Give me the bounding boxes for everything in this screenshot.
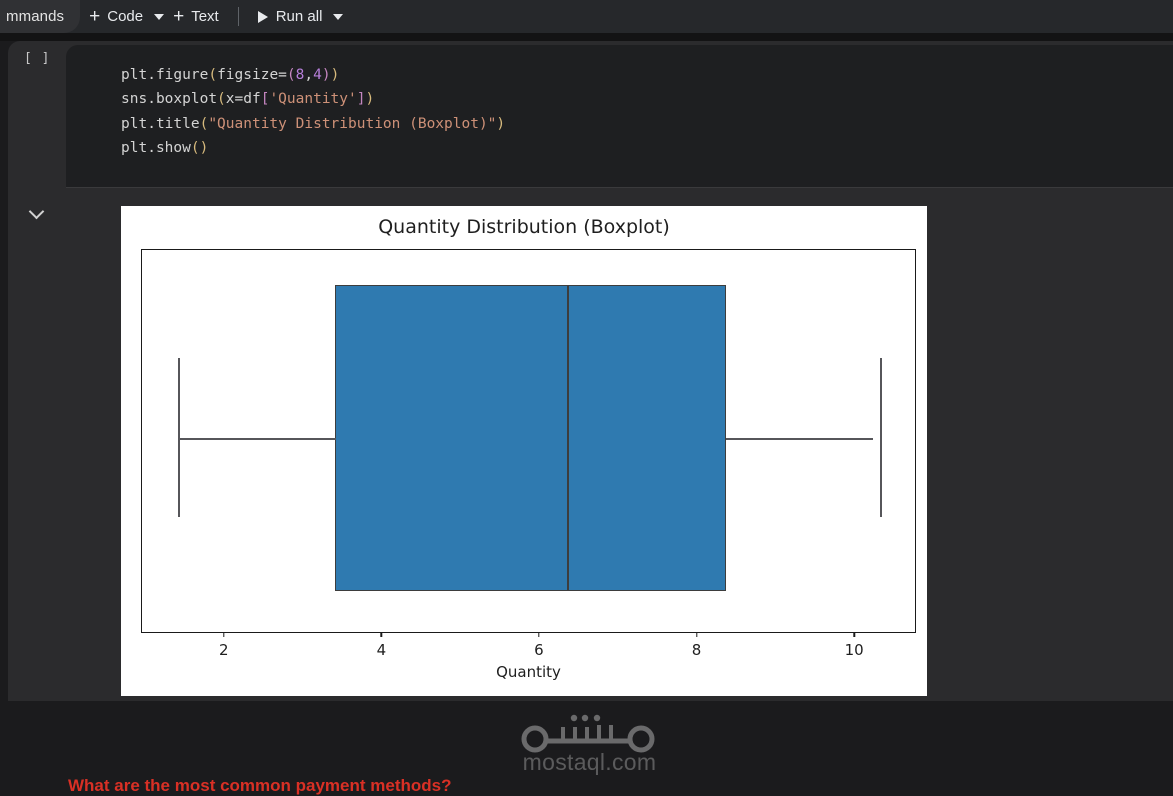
code-token: show xyxy=(156,140,191,156)
x-tick-mark xyxy=(538,632,539,637)
cell-gutter: [ ] xyxy=(8,41,66,701)
x-tick-label: 6 xyxy=(534,641,544,659)
x-tick-label: 8 xyxy=(692,641,702,659)
toolbar-divider xyxy=(238,7,239,26)
x-tick-mark xyxy=(381,632,382,637)
add-code-cell-button[interactable]: + Code xyxy=(80,0,152,33)
code-token: ) xyxy=(365,91,374,107)
code-token: 4 xyxy=(313,67,322,83)
x-tick-label: 10 xyxy=(845,641,864,659)
commands-button[interactable]: mmands xyxy=(0,0,80,33)
matplotlib-figure: Quantity Distribution (Boxplot) 2 4 xyxy=(121,206,927,696)
bottom-heading: What are the most common payment methods… xyxy=(68,776,452,796)
code-token: boxplot xyxy=(156,91,217,107)
notebook-body: [ ] plt.figure(figsize=(8,4)) sns.boxplo… xyxy=(0,41,1173,748)
plus-icon: + xyxy=(89,7,100,26)
run-all-chevron-down-icon[interactable] xyxy=(333,14,343,20)
cell-output: Quantity Distribution (Boxplot) 2 4 xyxy=(66,187,1173,701)
run-all-label: Run all xyxy=(276,8,323,25)
toolbar-bottom-divider xyxy=(0,33,1173,41)
commands-label: mmands xyxy=(6,8,64,25)
code-token: . xyxy=(147,67,156,83)
x-tick-mark xyxy=(696,632,697,637)
chart-axes: 2 4 6 8 10 xyxy=(141,249,916,633)
code-token: plt xyxy=(121,67,147,83)
code-token: 'Quantity' xyxy=(269,91,356,107)
boxplot-whisker-high xyxy=(726,438,873,440)
code-token: ) xyxy=(322,67,331,83)
chevron-down-icon[interactable] xyxy=(29,204,47,222)
code-editor[interactable]: plt.figure(figsize=(8,4)) sns.boxplot(x=… xyxy=(66,45,1173,187)
chart-title: Quantity Distribution (Boxplot) xyxy=(121,216,927,238)
boxplot-cap-high xyxy=(880,358,882,517)
x-tick-label: 4 xyxy=(377,641,387,659)
run-all-button[interactable]: Run all xyxy=(249,0,332,33)
boxplot-box xyxy=(335,285,726,591)
code-token: figsize= xyxy=(217,67,287,83)
boxplot-cap-low xyxy=(178,358,180,517)
x-tick-label: 2 xyxy=(219,641,229,659)
code-token: ( xyxy=(217,91,226,107)
play-icon xyxy=(258,11,268,23)
watermark: mostaql.com xyxy=(487,713,692,775)
boxplot-whisker-low xyxy=(178,438,336,440)
code-token: , xyxy=(304,67,313,83)
x-tick-mark xyxy=(853,632,854,637)
mostaql-logo-icon xyxy=(513,713,665,753)
code-token: ( xyxy=(287,67,296,83)
x-tick-mark xyxy=(223,632,224,637)
code-token: . xyxy=(147,91,156,107)
code-token: sns xyxy=(121,91,147,107)
add-text-label: Text xyxy=(191,8,219,25)
code-token: title xyxy=(156,116,200,132)
boxplot-median-line xyxy=(567,285,569,591)
code-chevron-down-icon[interactable] xyxy=(154,14,164,20)
code-text[interactable]: plt.figure(figsize=(8,4)) sns.boxplot(x=… xyxy=(121,63,505,160)
code-token: ( xyxy=(208,67,217,83)
code-token: ( xyxy=(191,140,200,156)
x-axis-label: Quantity xyxy=(141,663,916,681)
code-token: plt xyxy=(121,140,147,156)
code-token: ) xyxy=(200,140,209,156)
run-cell-button[interactable]: [ ] xyxy=(24,51,50,66)
notebook-toolbar: mmands + Code + Text Run all xyxy=(0,0,1173,33)
add-text-cell-button[interactable]: + Text xyxy=(164,0,228,33)
watermark-text: mostaql.com xyxy=(487,749,692,776)
code-token: "Quantity Distribution (Boxplot)" xyxy=(208,116,496,132)
add-code-label: Code xyxy=(107,8,143,25)
code-token: ) xyxy=(496,116,505,132)
plus-icon: + xyxy=(173,7,184,26)
code-token: ) xyxy=(331,67,340,83)
code-token: figure xyxy=(156,67,208,83)
code-token: . xyxy=(147,116,156,132)
code-token: plt xyxy=(121,116,147,132)
notebook-cell[interactable]: [ ] plt.figure(figsize=(8,4)) sns.boxplo… xyxy=(8,41,1173,701)
code-token: x=df xyxy=(226,91,261,107)
code-token: . xyxy=(147,140,156,156)
